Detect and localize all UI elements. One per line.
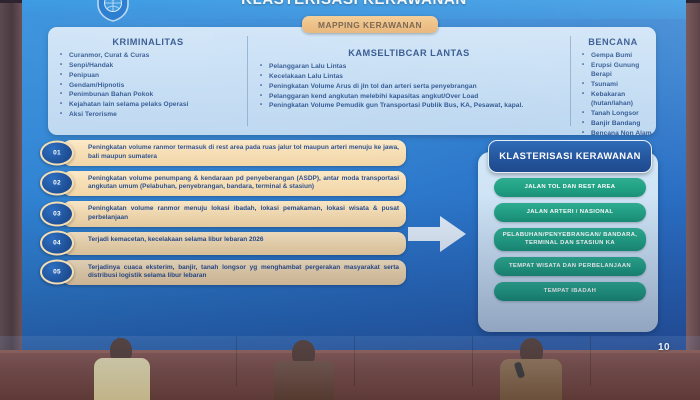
list-item: Tanah Longsor [591, 109, 654, 118]
row-text: Peningkatan volume penumpang & kendaraan… [62, 171, 406, 197]
slide-page-number: 10 [658, 342, 670, 353]
list-item: Curanmor, Curat & Curas [69, 51, 242, 60]
cluster-pill: TEMPAT WISATA DAN PERBELANJAAN [494, 257, 646, 276]
police-shield-logo-icon [96, 0, 130, 22]
cluster-pill: JALAN TOL DAN REST AREA [494, 178, 646, 197]
klasterisasi-list: JALAN TOL DAN REST AREA JALAN ARTERI / N… [494, 178, 646, 307]
row-number-badge: 03 [40, 201, 74, 226]
list-item: 02 Peningkatan volume penumpang & kendar… [40, 171, 406, 197]
column-divider-1 [247, 36, 248, 126]
row-number-badge: 01 [40, 140, 74, 165]
row-number-badge: 05 [40, 260, 74, 285]
column-list-kamseltibcar: Pelanggaran Lalu Lintas Kecelakaan Lalu … [260, 62, 562, 111]
list-item: Tsunami [591, 80, 654, 89]
cluster-pill: JALAN ARTERI / NASIONAL [494, 203, 646, 222]
column-heading-bencana: BENCANA [574, 37, 652, 47]
list-item: Kebakaran (hutan/lahan) [591, 90, 654, 109]
list-item: Kejahatan lain selama pelaks Operasi [69, 100, 242, 109]
row-number-badge: 02 [40, 171, 74, 196]
list-item: Bencana Non Alam [591, 129, 654, 138]
column-list-bencana: Gempa Bumi Erupsi Gunung Berapi Tsunami … [582, 51, 654, 139]
column-list-kriminalitas: Curanmor, Curat & Curas Senpi/Handak Pen… [60, 51, 242, 120]
list-item: 03 Peningkatan volume ranmor menuju loka… [40, 201, 406, 227]
list-item: Peningkatan Volume Pemudik gun Transport… [269, 101, 562, 110]
mapping-kerawanan-banner: MAPPING KERAWANAN [302, 16, 438, 33]
column-divider-2 [570, 36, 571, 126]
screenshot-stage: KLASTERISASI KERAWANAN KRIMINALITAS Cura… [0, 0, 700, 400]
list-item: Senpi/Handak [69, 61, 242, 70]
list-item: Pelanggaran Lalu Lintas [269, 62, 562, 71]
mapping-info-panel: KRIMINALITAS Curanmor, Curat & Curas Sen… [48, 27, 656, 135]
row-text: Peningkatan volume ranmor termasuk di re… [62, 140, 406, 166]
klasterisasi-heading: KLASTERISASI KERAWANAN [488, 140, 652, 173]
cluster-pill: TEMPAT IBADAH [494, 282, 646, 301]
list-item: Gempa Bumi [591, 51, 654, 60]
right-arrow-icon [406, 212, 468, 256]
column-heading-kamseltibcar: KAMSELTIBCAR LANTAS [251, 48, 567, 58]
row-text: Terjadinya cuaca eksterim, banjir, tanah… [62, 260, 406, 286]
list-item: Gendam/Hipnotis [69, 81, 242, 90]
row-number-badge: 04 [40, 231, 74, 256]
column-heading-kriminalitas: KRIMINALITAS [54, 37, 242, 47]
projection-haze-overlay [0, 336, 700, 400]
list-item: Penipuan [69, 71, 242, 80]
list-item: 05 Terjadinya cuaca eksterim, banjir, ta… [40, 260, 406, 286]
list-item: Banjir Bandang [591, 119, 654, 128]
list-item: Pelanggaran kend angkutan melebihi kapas… [269, 92, 562, 101]
list-item: Erupsi Gunung Berapi [591, 61, 654, 80]
row-text: Peningkatan volume ranmor menuju lokasi … [62, 201, 406, 227]
projected-slide: KLASTERISASI KERAWANAN KRIMINALITAS Cura… [22, 0, 686, 352]
list-item: Kecelakaan Lalu Lintas [269, 72, 562, 81]
cluster-pill: PELABUHAN/PENYEBRANGAN/ BANDARA, TERMINA… [494, 228, 646, 251]
list-item: 04 Terjadi kemacetan, kecelakaan selama … [40, 232, 406, 255]
list-item: Aksi Terorisme [69, 110, 242, 119]
list-item: Penimbunan Bahan Pokok [69, 90, 242, 99]
row-text: Terjadi kemacetan, kecelakaan selama lib… [62, 232, 406, 255]
list-item: Peningkatan Volume Arus di jln tol dan a… [269, 82, 562, 91]
threat-list: 01 Peningkatan volume ranmor termasuk di… [40, 140, 406, 290]
foreground-panelists [0, 336, 700, 400]
list-item: 01 Peningkatan volume ranmor termasuk di… [40, 140, 406, 166]
